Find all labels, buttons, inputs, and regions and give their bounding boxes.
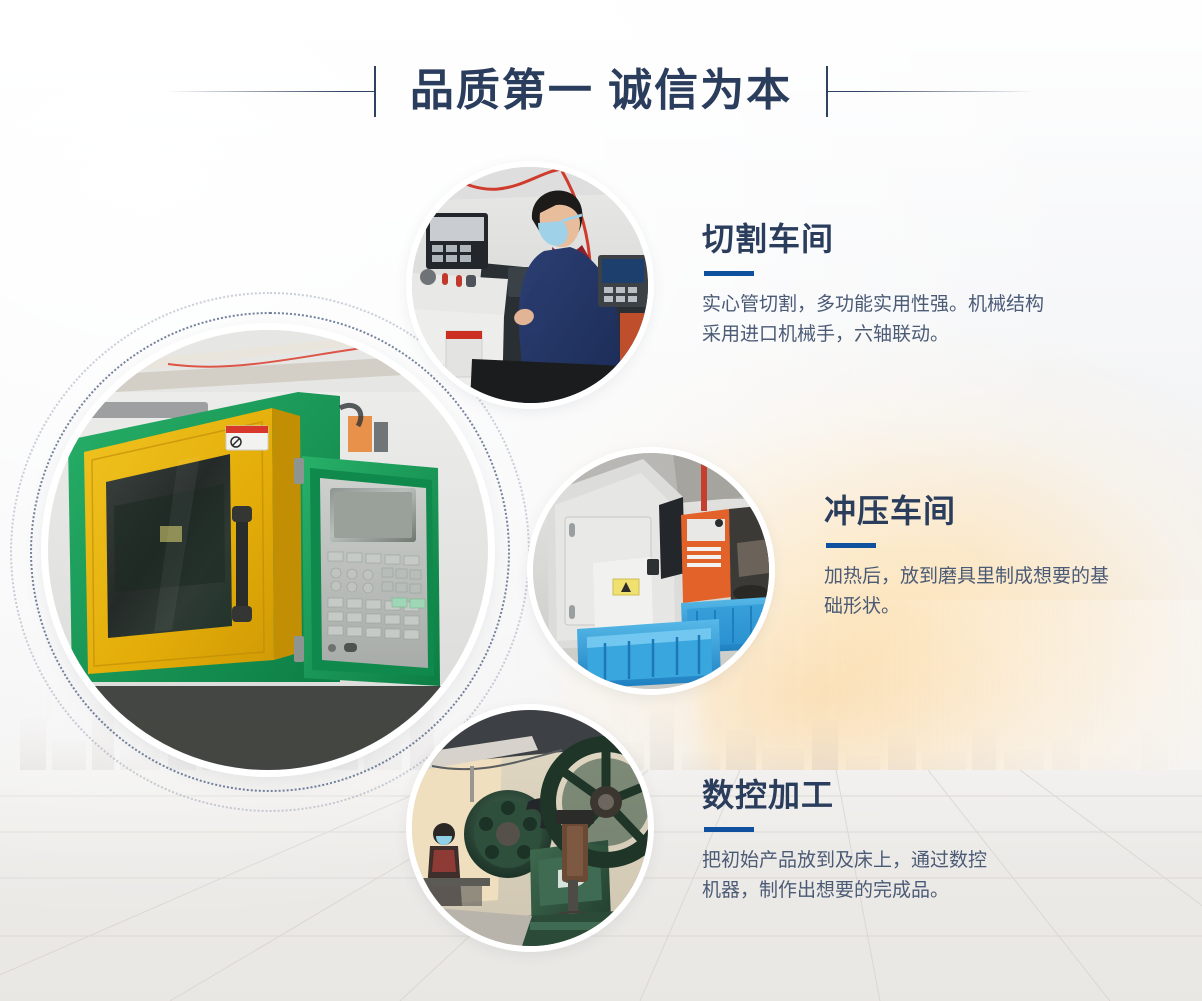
step-image-cutting: 40 <box>412 167 648 403</box>
promo-page: 品质第一 诚信为本 <box>0 0 1202 1001</box>
step-text-cnc: 数控加工 把初始产品放到及床上，通过数控 机器，制作出想要的完成品。 <box>702 778 987 905</box>
page-title: 品质第一 诚信为本 <box>410 69 792 113</box>
step-text-cutting: 切割车间 实心管切割，多功能实用性强。机械结构 采用进口机械手，六轴联动。 <box>702 222 1044 349</box>
step-title-cutting: 切割车间 <box>702 222 1044 257</box>
step-title-cnc: 数控加工 <box>702 778 987 813</box>
header-tick-right <box>826 66 828 117</box>
step-image-cnc <box>412 710 648 946</box>
header-tick-left <box>374 66 376 117</box>
step-description-cnc: 把初始产品放到及床上，通过数控 机器，制作出想要的完成品。 <box>702 846 987 905</box>
hero-image-injection-molding-machine <box>48 330 488 770</box>
step-text-stamping: 冲压车间 加热后，放到磨具里制成想要的基 础形状。 <box>824 494 1109 621</box>
page-header: 品质第一 诚信为本 <box>0 48 1202 134</box>
step-accent-bar-stamping <box>826 543 876 548</box>
header-rule-right <box>826 91 1036 92</box>
injection-molding-machine-illustration <box>48 330 488 770</box>
step-accent-bar-cutting <box>704 271 754 276</box>
step-title-stamping: 冲压车间 <box>824 494 1109 529</box>
step-description-stamping: 加热后，放到磨具里制成想要的基 础形状。 <box>824 562 1109 621</box>
step-accent-bar-cnc <box>704 827 754 832</box>
step-image-stamping <box>533 453 769 689</box>
step-description-cutting: 实心管切割，多功能实用性强。机械结构 采用进口机械手，六轴联动。 <box>702 290 1044 349</box>
header-rule-left <box>166 91 376 92</box>
